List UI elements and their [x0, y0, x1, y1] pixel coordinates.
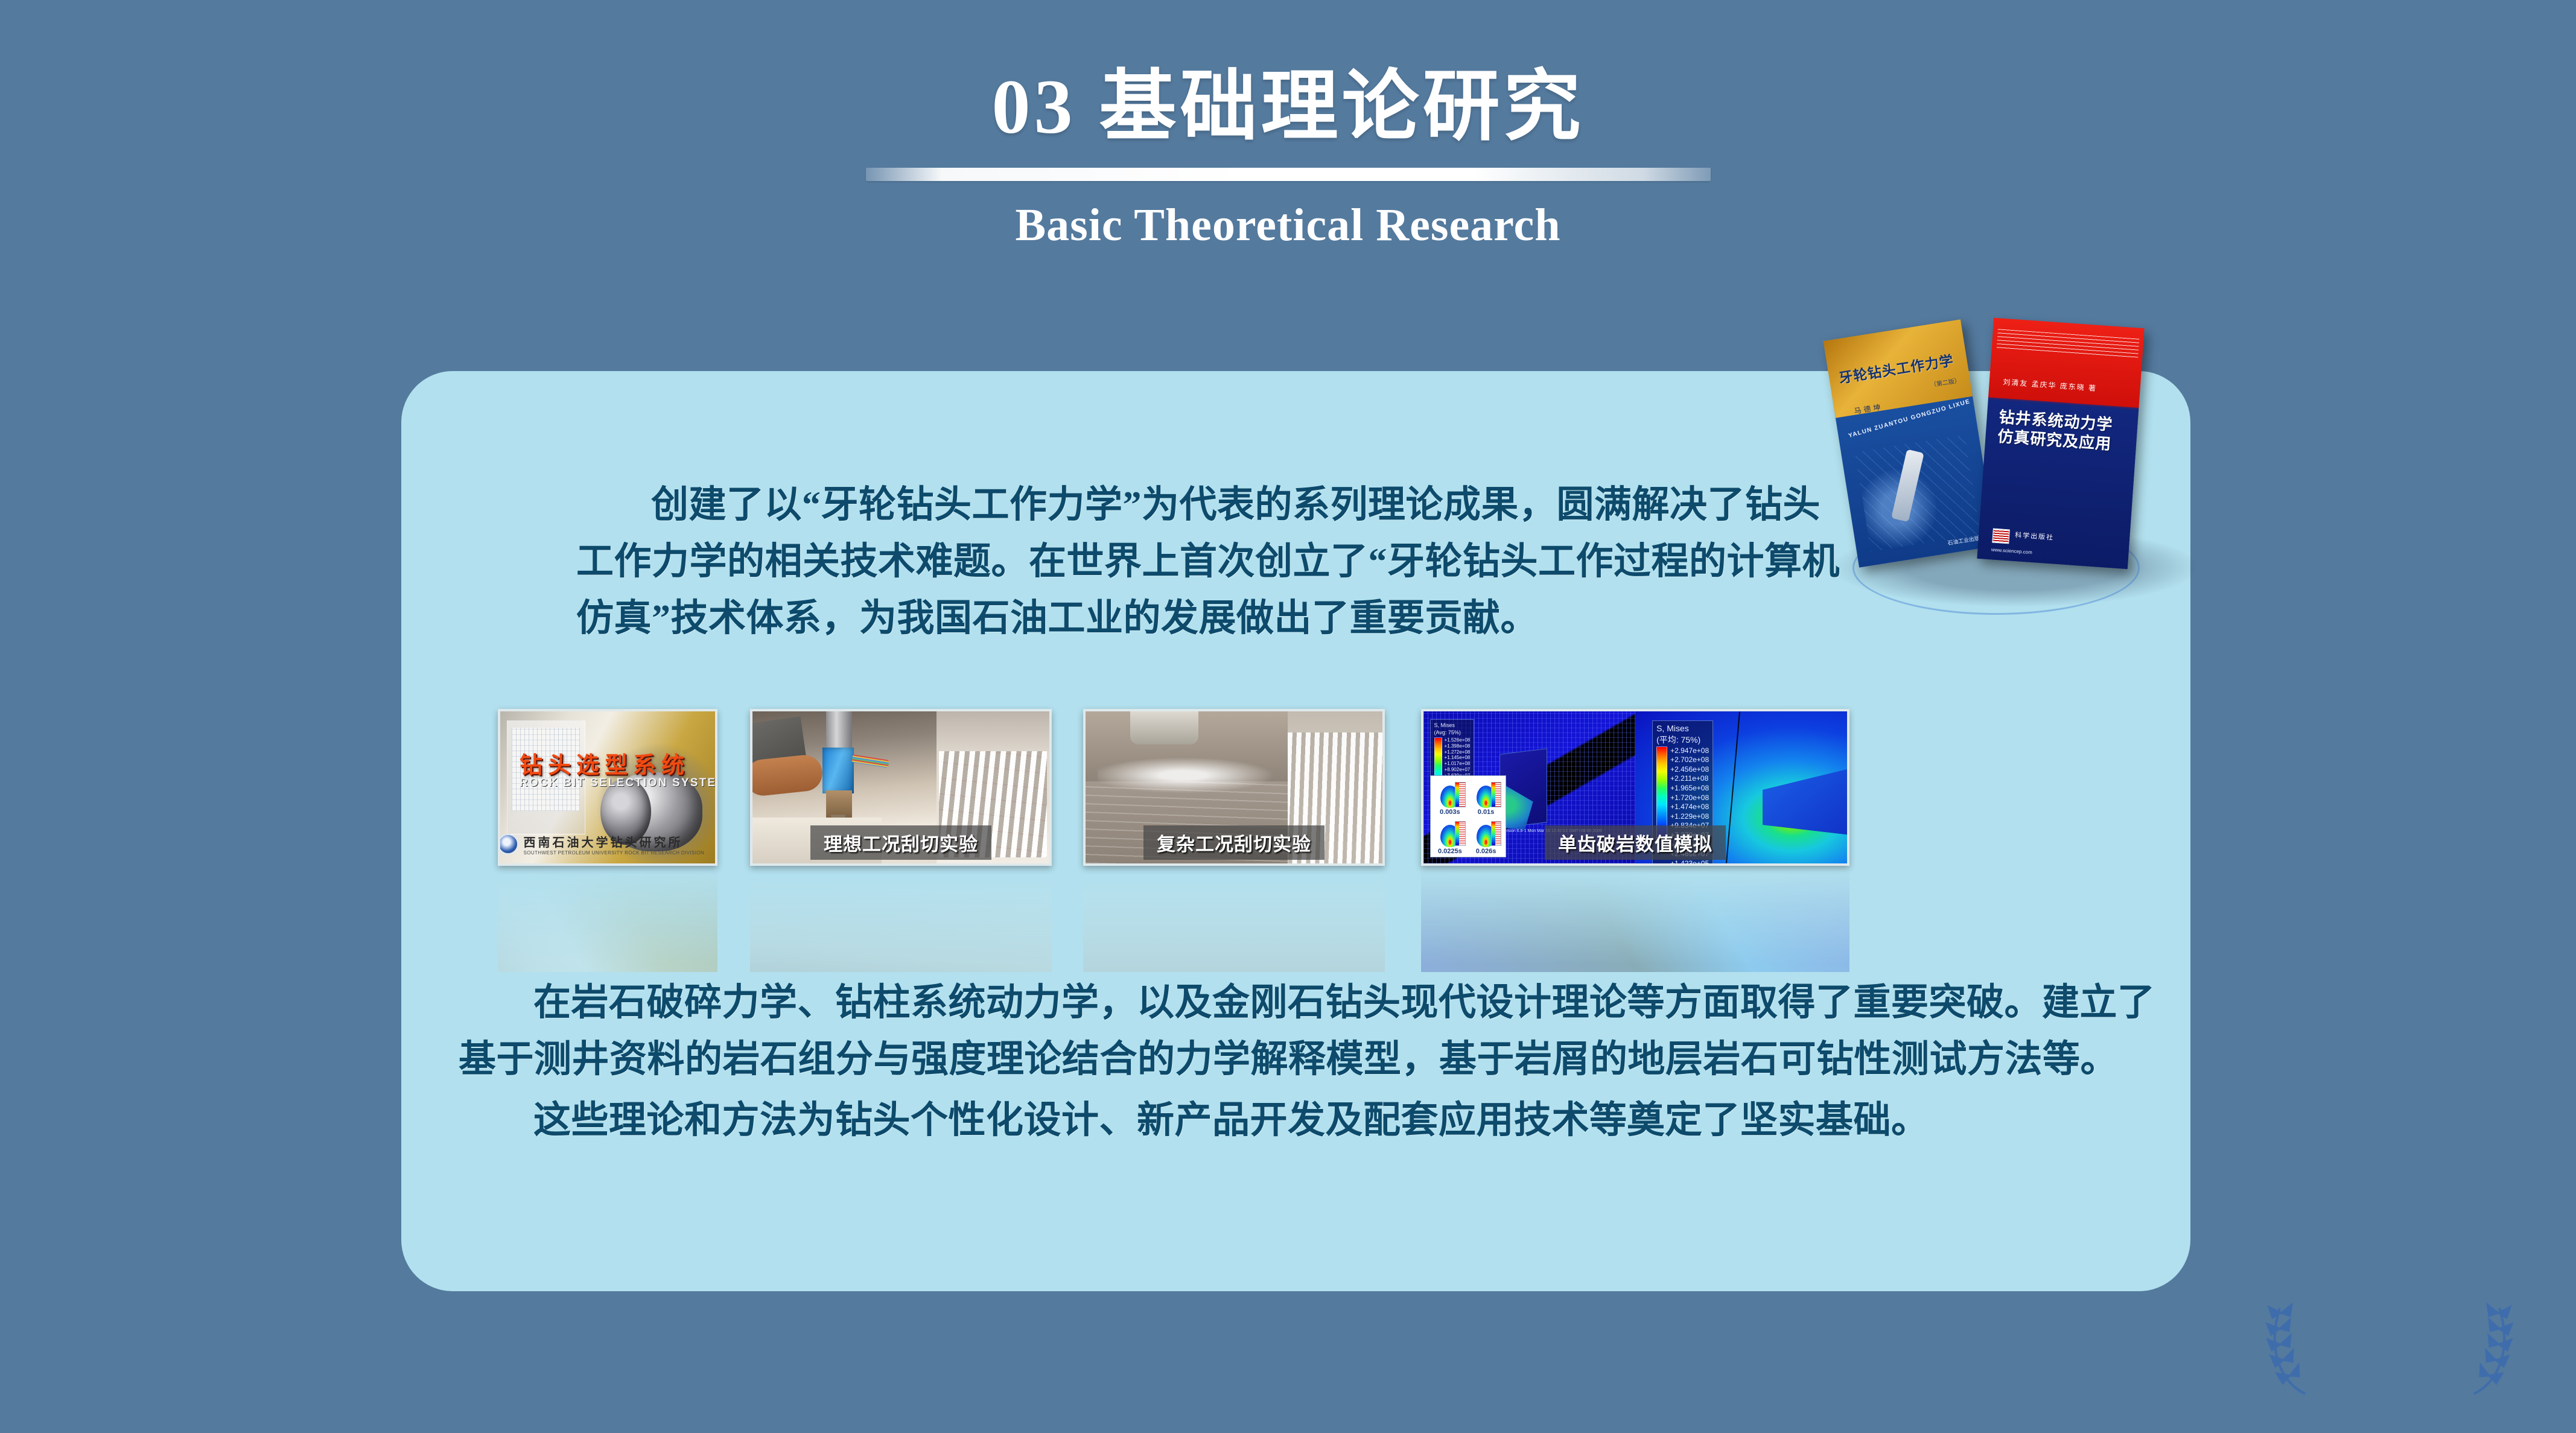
inset-cell: 0.026s — [1468, 816, 1504, 855]
book-2-url: www.sciencep.com — [1991, 547, 2032, 555]
page-subtitle: Basic Theoretical Research — [0, 199, 2576, 252]
figure-reflection — [1421, 869, 1849, 972]
book-covers-group: 牙轮钻头工作力学 （第二版） 马德坤 YALUN ZUANTOU GONGZUO… — [1816, 329, 2239, 612]
inset-time-label: 0.003s — [1440, 809, 1460, 816]
university-logo-icon — [498, 834, 518, 854]
page-title: 03 基础理论研究 — [0, 66, 2576, 147]
inset-time-label: 0.026s — [1476, 848, 1496, 855]
paragraph-bottom-1: 在岩石破碎力学、钻柱系统动力学，以及金刚石钻头现代设计理论等方面取得了重要突破。… — [459, 974, 2160, 1088]
figure-reflection — [750, 869, 1052, 972]
book-1-cover-art — [1855, 435, 1980, 552]
figure-caption: 理想工况刮切实验 — [810, 825, 991, 860]
cover-title-en: ROCK BIT SELECTION SYSTEM — [520, 777, 717, 790]
inset-cell: 0.01s — [1468, 778, 1504, 816]
slide-title-block: 03 基础理论研究 Basic Theoretical Research — [0, 66, 2576, 252]
figure-single-tooth-rock-breaking-simulation[interactable]: S, Mises (Avg: 75%) +1.526e+08+1.398e+08… — [1421, 709, 1849, 866]
book-cover-zuanjing-xitong-donglixue[interactable]: 刘清友 孟庆华 庞东晓 著 钻井系统动力学仿真研究及应用 科学出版社 www.s… — [1977, 318, 2144, 569]
figure-ideal-condition-scraping-test[interactable]: 理想工况刮切实验 — [750, 709, 1052, 866]
institute-credit: 西南石油大学钻头研究所 SOUTHWEST PETROLEUM UNIVERSI… — [498, 833, 704, 856]
rock-bit-cover-image: 钻头选型系统 ROCK BIT SELECTION SYSTEM 西南石油大学钻… — [500, 711, 715, 863]
inset-cell: 0.0225s — [1433, 816, 1468, 855]
paragraph-top: 创建了以“牙轮钻头工作力学”为代表的系列理论成果，圆满解决了钻头工作力学的相关技… — [576, 477, 1843, 647]
figure-reflection — [1083, 869, 1385, 972]
institute-name-cn: 西南石油大学钻头研究所 — [523, 833, 704, 850]
legend-subtitle: (Avg: 75%) — [1434, 729, 1471, 736]
figure-caption: 单齿破岩数值模拟 — [1545, 825, 1726, 860]
publisher-logo-icon — [1992, 528, 2010, 544]
inset-time-label: 0.0225s — [1438, 848, 1462, 855]
title-divider — [866, 168, 1711, 181]
book-2-publisher: 科学出版社 — [2015, 530, 2055, 542]
cover-title-cn: 钻头选型系统 — [520, 746, 690, 780]
figure-strip: 钻头选型系统 ROCK BIT SELECTION SYSTEM 西南石油大学钻… — [401, 709, 2190, 902]
legend-title: S, Mises — [1434, 722, 1471, 729]
time-series-inset: 0.003s 0.01s 0.0225s 0.026s — [1430, 775, 1506, 857]
figure-caption: 复杂工况刮切实验 — [1143, 825, 1325, 860]
institute-name-en: SOUTHWEST PETROLEUM UNIVERSITY ROCK BIT … — [523, 850, 704, 856]
paragraph-bottom-2: 这些理论和方法为钻头个性化设计、新产品开发及配套应用技术等奠定了坚实基础。 — [459, 1092, 2160, 1149]
book-2-title: 钻井系统动力学仿真研究及应用 — [1997, 408, 2113, 454]
figure-complex-condition-scraping-test[interactable]: 复杂工况刮切实验 — [1083, 709, 1385, 866]
book-2-top-band — [1988, 318, 2145, 408]
figure-rock-bit-selection-system[interactable]: 钻头选型系统 ROCK BIT SELECTION SYSTEM 西南石油大学钻… — [498, 709, 717, 866]
inset-cell: 0.003s — [1433, 778, 1468, 816]
legend-title: S, Mises — [1656, 723, 1709, 734]
inset-time-label: 0.01s — [1478, 809, 1495, 816]
legend-subtitle: (平均: 75%) — [1656, 735, 1709, 745]
figure-reflection — [498, 869, 717, 972]
laurel-wreath-icon — [2233, 1273, 2546, 1418]
